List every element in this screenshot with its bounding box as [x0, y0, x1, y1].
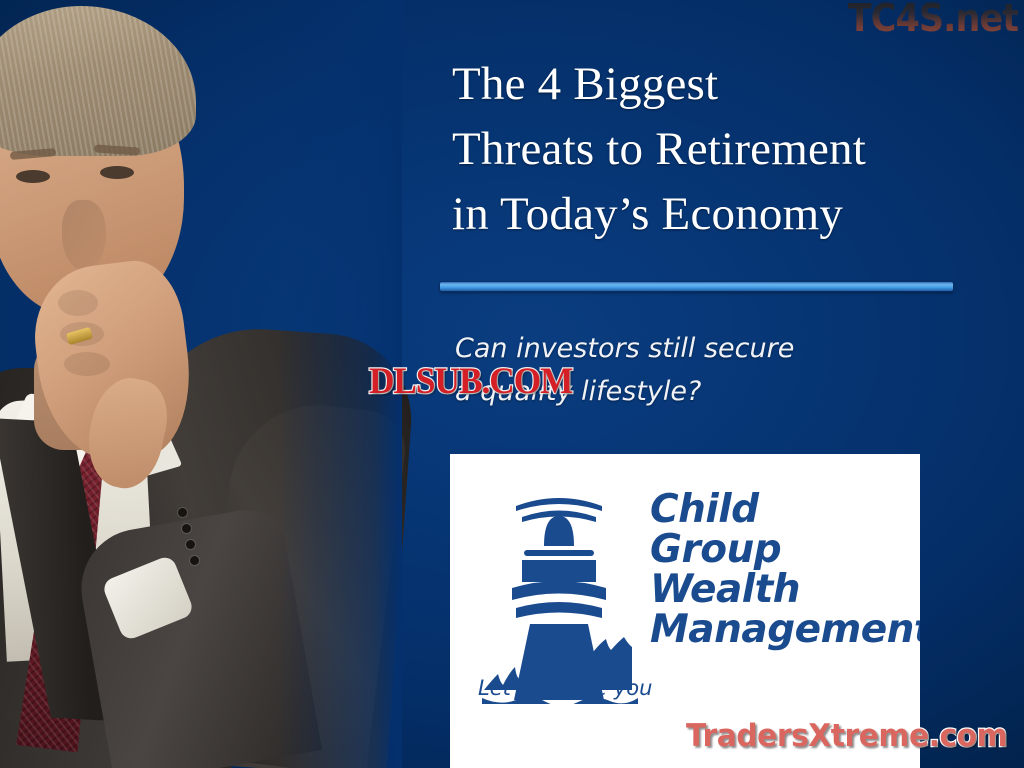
- watermark-dlsub: DLSUB.COM: [369, 360, 572, 403]
- nose: [62, 200, 106, 270]
- logo-word-3: Wealth: [650, 570, 920, 610]
- eye-right: [100, 166, 134, 179]
- presentation-slide: The 4 Biggest Threats to Retirement in T…: [0, 0, 1024, 768]
- logo-tagline: Let us guide you: [478, 676, 652, 700]
- sleeve-button: [178, 508, 187, 517]
- title-line-1: The 4 Biggest: [452, 52, 992, 117]
- lighthouse-icon: [474, 484, 644, 704]
- watermark-tc4s: TC4S.net: [848, 0, 1018, 40]
- sleeve-button: [186, 540, 195, 549]
- title-line-3: in Today’s Economy: [452, 182, 992, 247]
- pensive-businessman-photo: [0, 0, 402, 768]
- sleeve-button: [182, 524, 191, 533]
- logo-word-2: Group: [650, 530, 920, 570]
- sleeve-button: [190, 556, 199, 565]
- lighthouse-icon-svg: [474, 484, 644, 704]
- page-title: The 4 Biggest Threats to Retirement in T…: [452, 52, 992, 247]
- eye-left: [16, 170, 50, 183]
- logo-word-4: Management: [650, 610, 920, 650]
- knuckle: [58, 290, 98, 316]
- logo-wordmark: Child Group Wealth Management: [650, 484, 920, 650]
- suit-sleeve: [72, 504, 322, 768]
- logo-word-1: Child: [650, 490, 920, 530]
- title-line-2: Threats to Retirement: [452, 117, 992, 182]
- watermark-tradersxtreme: TradersXtreme.com: [686, 718, 1007, 754]
- title-divider: [440, 282, 953, 291]
- hair: [0, 6, 196, 156]
- knuckle: [64, 352, 110, 376]
